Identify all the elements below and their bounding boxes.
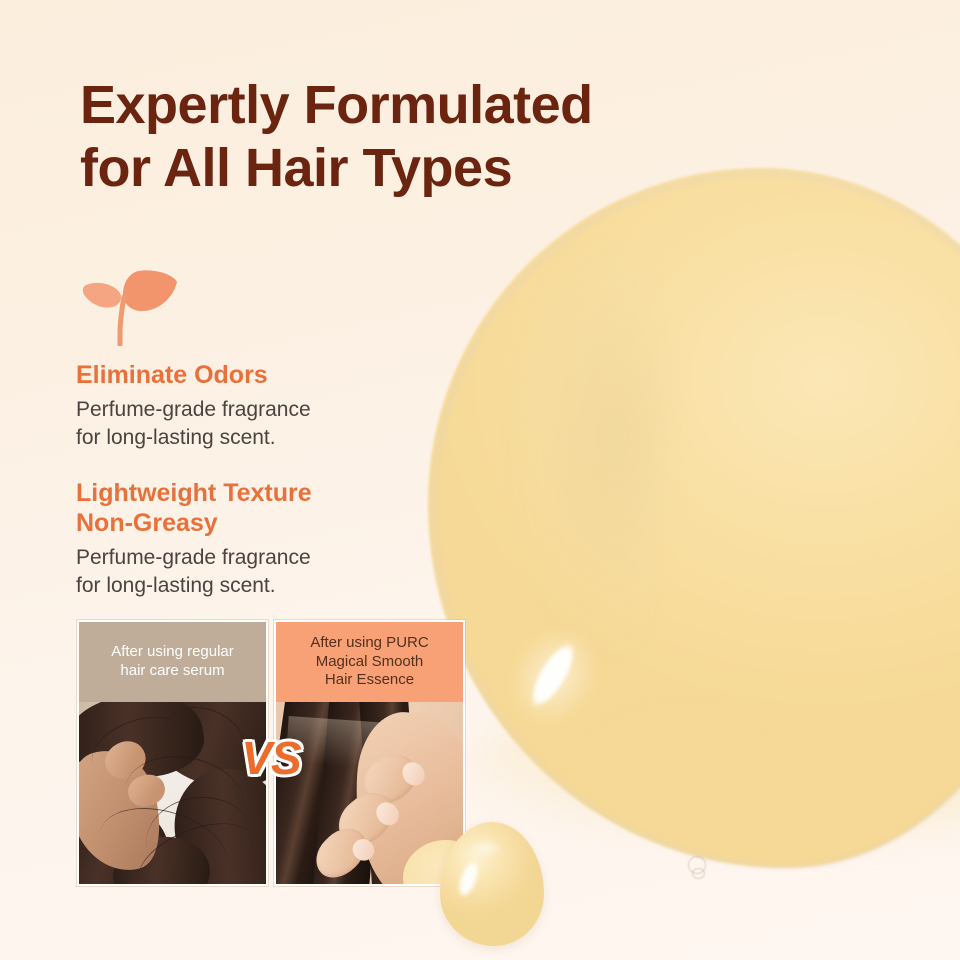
product-marketing-poster: Expertly Formulated for All Hair Types E… (0, 0, 960, 960)
page-title: Expertly Formulated for All Hair Types (80, 74, 720, 199)
feature-description: Perfume-grade fragrance for long-lasting… (76, 544, 436, 600)
smooth-glossy-hair-photo (276, 702, 463, 884)
oil-blob-inner-swirl (550, 680, 781, 843)
oil-micro-bubble-icon (688, 856, 706, 874)
comparison-caption-after: After using PURC Magical Smooth Hair Ess… (276, 622, 463, 702)
feature-item: Lightweight Texture Non-Greasy Perfume-g… (76, 478, 436, 600)
feature-title: Eliminate Odors (76, 360, 436, 390)
comparison-caption-before: After using regular hair care serum (79, 622, 266, 702)
feature-description: Perfume-grade fragrance for long-lasting… (76, 396, 436, 452)
oil-droplet-soft-highlight (470, 838, 504, 858)
sprout-leaf-icon (78, 268, 180, 346)
oil-blob-specular-highlight (526, 641, 580, 710)
oil-blob-gloss-halo (491, 610, 617, 742)
oil-blob-shape (428, 168, 960, 868)
feature-title: Lightweight Texture Non-Greasy (76, 478, 436, 538)
oil-blob-rim-highlight (432, 172, 960, 868)
oil-blob-shading (436, 200, 666, 760)
feature-item: Eliminate Odors Perfume-grade fragrance … (76, 360, 436, 452)
versus-badge: VS (233, 735, 309, 781)
frizzy-damaged-hair-photo (79, 702, 266, 884)
oil-micro-bubble-icon (692, 868, 705, 879)
feature-list: Eliminate Odors Perfume-grade fragrance … (76, 360, 436, 600)
